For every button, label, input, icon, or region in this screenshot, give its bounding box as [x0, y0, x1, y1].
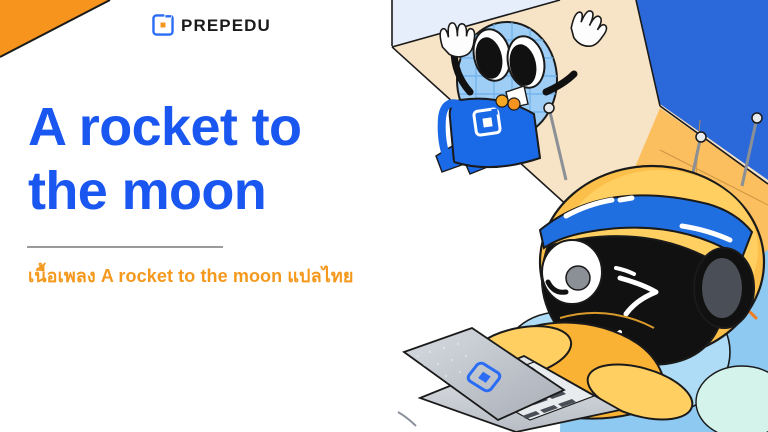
brand-logo-text: PREPEDU	[181, 17, 271, 34]
title-divider	[27, 246, 223, 248]
page-title: A rocket to the moon	[28, 96, 448, 223]
poster-canvas: PREPEDU A rocket to the moon เนื้อเพลง A…	[0, 0, 768, 432]
prepedu-square-logo-icon	[152, 14, 174, 36]
page-subtitle: เนื้อเพลง A rocket to the moon แปลไทย	[28, 261, 353, 290]
brand-logo[interactable]: PREPEDU	[152, 14, 271, 36]
